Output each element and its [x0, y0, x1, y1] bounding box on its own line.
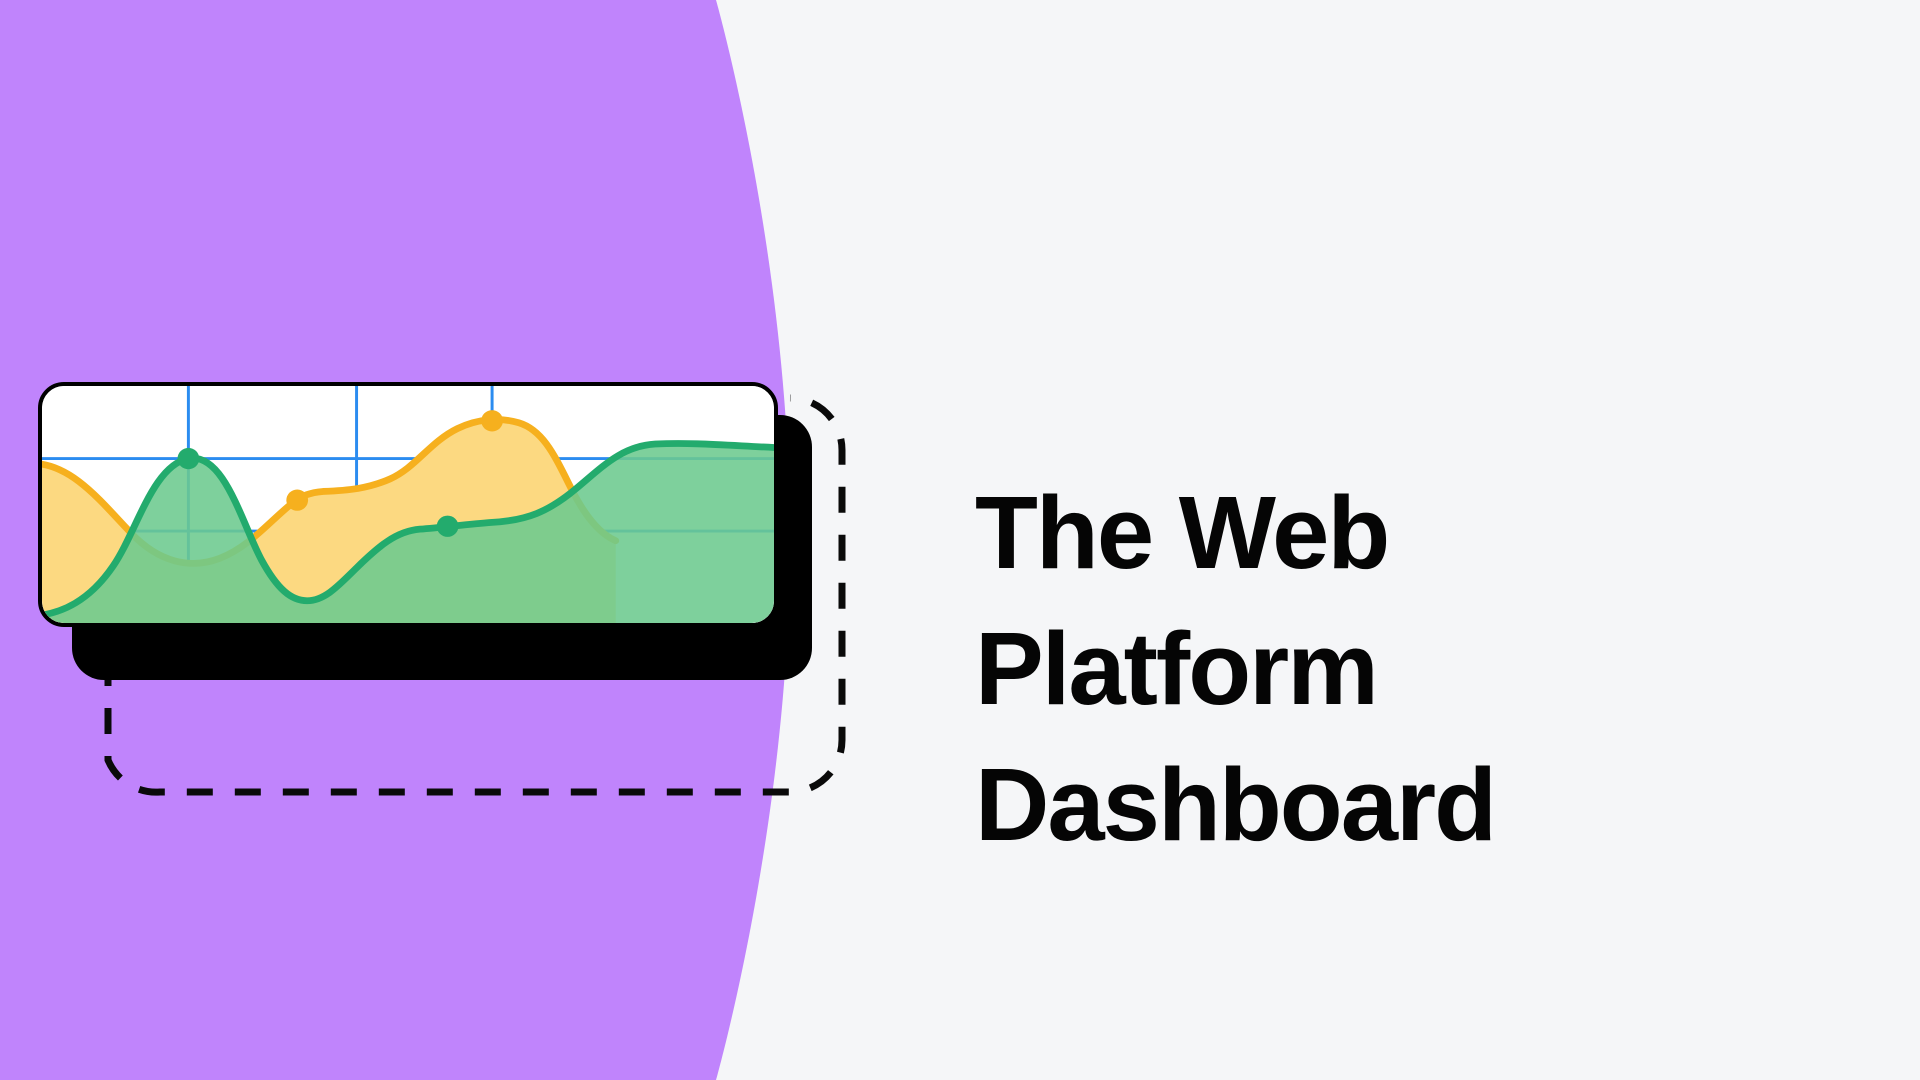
- dashboard-chart-card[interactable]: [38, 382, 778, 627]
- page-title-line-1: The Web: [975, 465, 1735, 601]
- area-chart: [42, 386, 774, 623]
- green-point-2: [437, 516, 459, 537]
- page-title-line-2: Platform: [975, 601, 1735, 737]
- page-title-line-3: Dashboard: [975, 737, 1735, 873]
- slide-stage: The Web Platform Dashboard: [0, 0, 1920, 1080]
- yellow-point-1: [286, 490, 308, 511]
- green-point-1: [178, 448, 200, 469]
- page-title: The Web Platform Dashboard: [975, 465, 1735, 873]
- yellow-point-2: [481, 410, 503, 431]
